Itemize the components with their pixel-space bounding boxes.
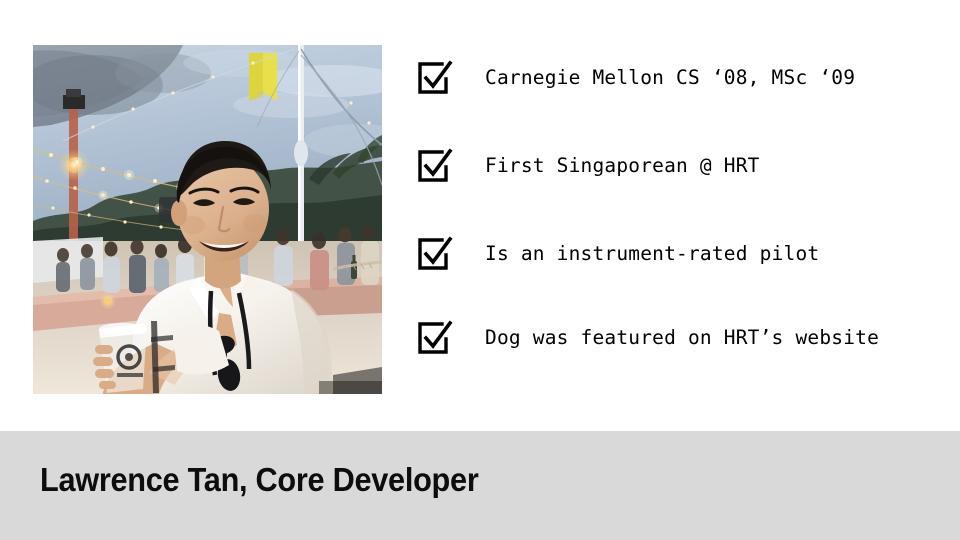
slide-canvas: Carnegie Mellon CS ‘08, MSc ‘09 First Si… <box>0 0 960 540</box>
list-item: Is an instrument-rated pilot <box>416 234 819 274</box>
checkbox-checked-icon <box>416 235 454 273</box>
list-item-label: First Singaporean @ HRT <box>485 156 760 176</box>
checkbox-checked-icon <box>416 319 454 357</box>
list-item: Dog was featured on HRT’s website <box>416 318 879 358</box>
list-item: First Singaporean @ HRT <box>416 146 760 186</box>
list-item-label: Dog was featured on HRT’s website <box>485 328 879 348</box>
checkbox-checked-icon <box>416 59 454 97</box>
list-item: Carnegie Mellon CS ‘08, MSc ‘09 <box>416 58 855 98</box>
page-title: Lawrence Tan, Core Developer <box>40 462 478 498</box>
checkbox-checked-icon <box>416 147 454 185</box>
list-item-label: Is an instrument-rated pilot <box>485 244 819 264</box>
caption-bar: Lawrence Tan, Core Developer <box>0 431 960 540</box>
list-item-label: Carnegie Mellon CS ‘08, MSc ‘09 <box>485 68 855 88</box>
profile-photo <box>33 45 382 394</box>
